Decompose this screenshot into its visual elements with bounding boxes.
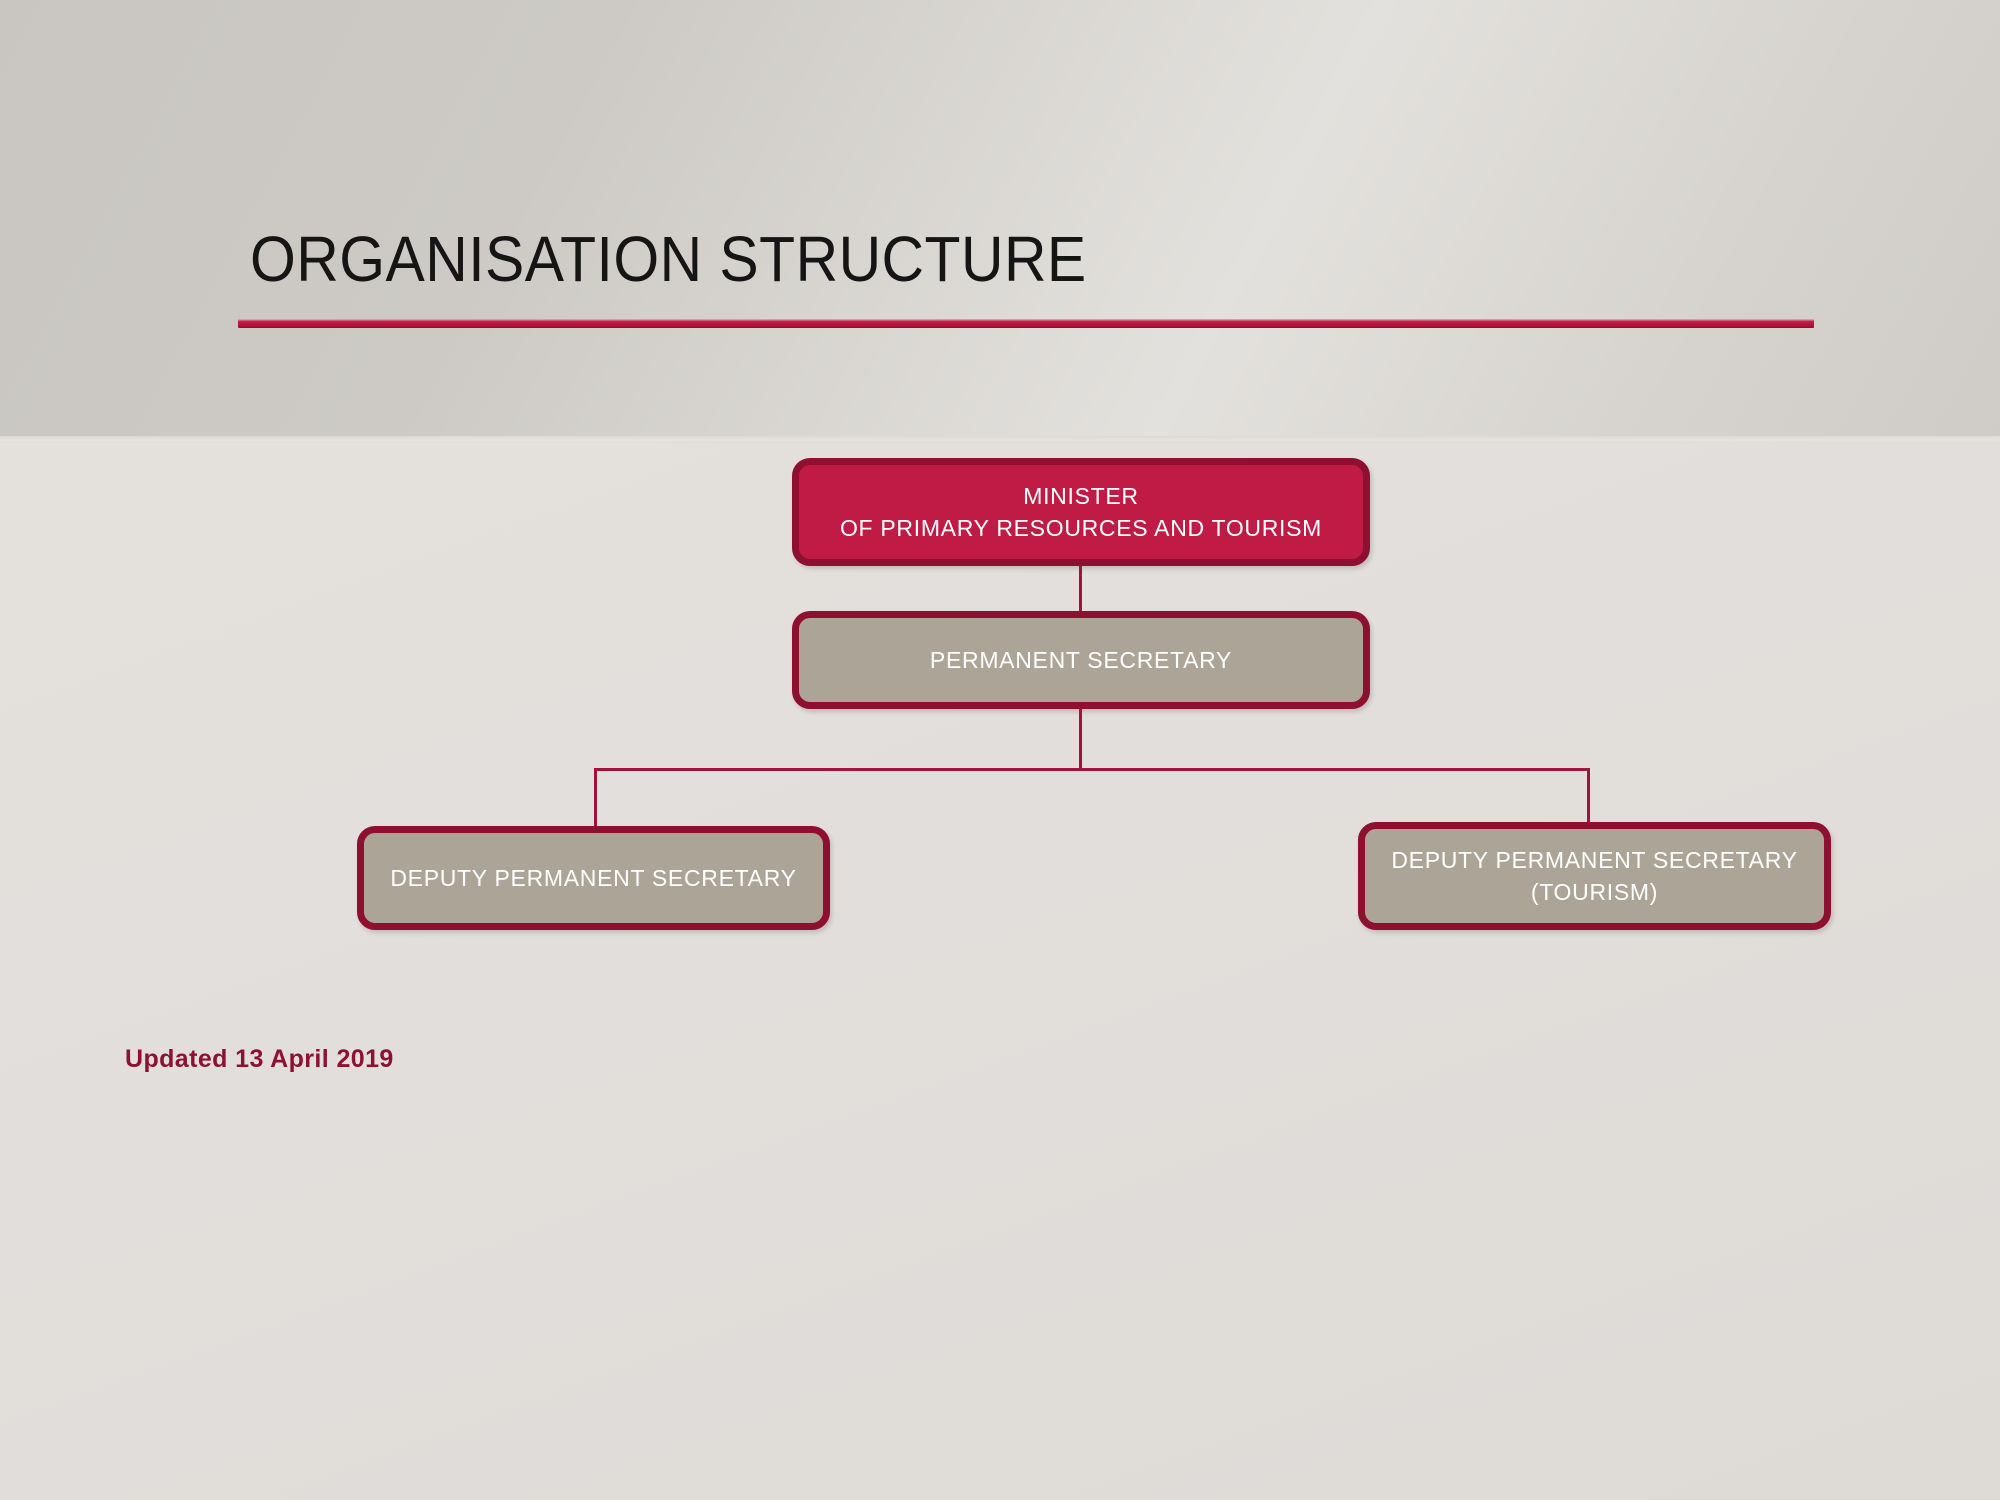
org-node-minister[interactable]: MINISTER OF PRIMARY RESOURCES AND TOURIS…: [792, 458, 1370, 566]
header-band-edge: [0, 436, 2000, 443]
updated-note: Updated 13 April 2019: [125, 1045, 394, 1074]
slide-canvas: ORGANISATION STRUCTURE MINISTER OF PRIMA…: [0, 0, 2000, 1500]
org-node-deputy-permanent-secretary-label: DEPUTY PERMANENT SECRETARY: [390, 862, 796, 894]
connector-bus-to-deputy-permanent-secretary: [594, 768, 597, 828]
connector-horizontal-bus: [594, 768, 1590, 771]
org-node-minister-label: MINISTER OF PRIMARY RESOURCES AND TOURIS…: [840, 480, 1322, 544]
header-background-band: [0, 0, 2000, 440]
connector-bus-to-deputy-permanent-secretary-tourism: [1587, 768, 1590, 824]
org-node-deputy-permanent-secretary[interactable]: DEPUTY PERMANENT SECRETARY: [357, 826, 830, 930]
page-title: ORGANISATION STRUCTURE: [250, 222, 1087, 296]
connector-permanent-secretary-stem: [1079, 708, 1082, 770]
connector-minister-to-permanent-secretary: [1079, 565, 1082, 615]
org-node-permanent-secretary-label: PERMANENT SECRETARY: [930, 644, 1232, 676]
org-node-deputy-permanent-secretary-tourism-label: DEPUTY PERMANENT SECRETARY (TOURISM): [1391, 844, 1797, 908]
org-node-deputy-permanent-secretary-tourism[interactable]: DEPUTY PERMANENT SECRETARY (TOURISM): [1358, 822, 1831, 930]
org-node-permanent-secretary[interactable]: PERMANENT SECRETARY: [792, 611, 1370, 709]
body-background-band: [0, 443, 2000, 1500]
title-underline-rule: [238, 319, 1814, 328]
